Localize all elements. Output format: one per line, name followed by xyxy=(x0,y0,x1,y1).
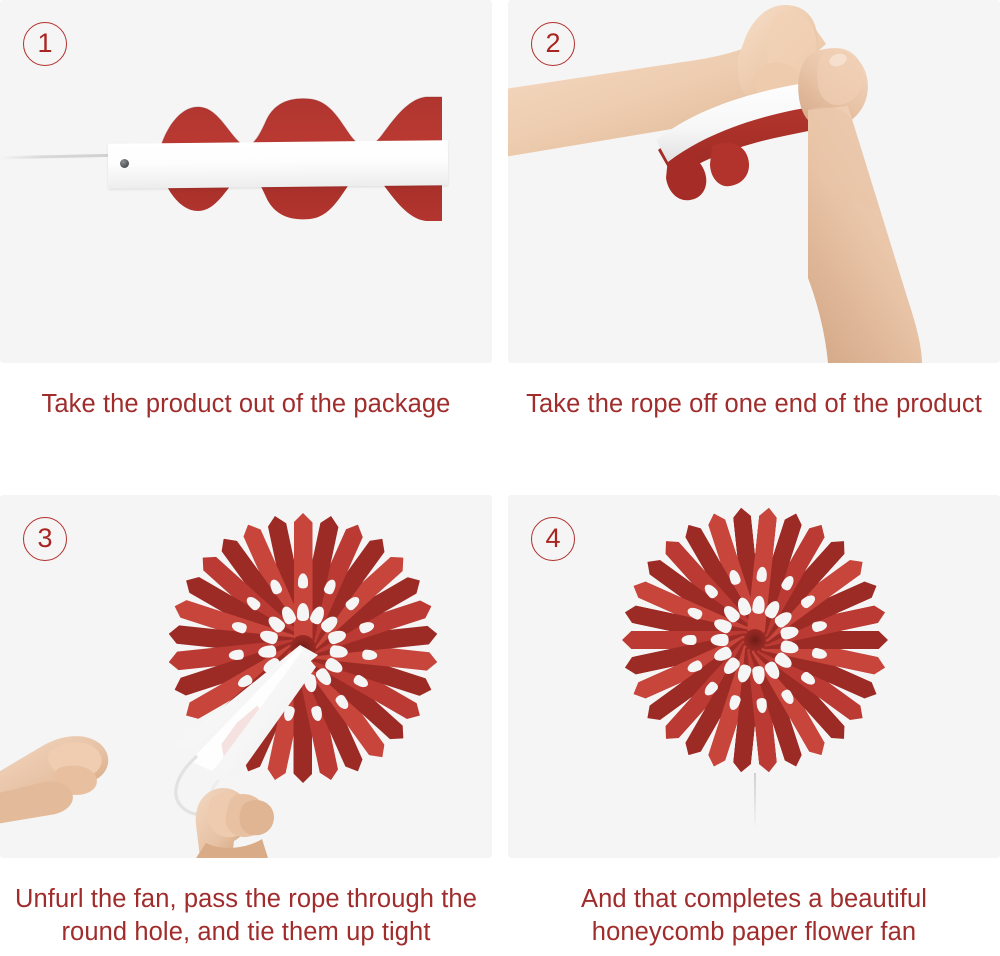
step-1-badge: 1 xyxy=(23,22,67,66)
step-1-caption: Take the product out of the package xyxy=(0,388,492,421)
step-3-panel: 3 Unfurl the fan, pass the rope through … xyxy=(0,495,492,858)
step-4-image-area xyxy=(508,495,1000,858)
fan-hanging-string xyxy=(754,773,756,829)
instruction-sheet: 1 Take the product out of the package xyxy=(0,0,1000,956)
step-3-image-area xyxy=(0,495,492,858)
completed-fan xyxy=(622,507,888,773)
step-4-caption: And that completes a beautiful honeycomb… xyxy=(508,883,1000,949)
step-3-badge: 3 xyxy=(23,517,67,561)
step-1-panel: 1 Take the product out of the package xyxy=(0,0,492,363)
step-4-badge: 4 xyxy=(531,517,575,561)
fan-center-hub xyxy=(744,629,766,651)
step-2-image-area xyxy=(508,0,1000,363)
step-1-image-area xyxy=(0,0,492,363)
step-4-panel: 4 And that completes a beautiful honeyco… xyxy=(508,495,1000,858)
cardboard-strip xyxy=(108,140,448,189)
step-2-illustration xyxy=(508,0,1000,363)
step-3-caption: Unfurl the fan, pass the rope through th… xyxy=(0,883,492,949)
step-2-panel: 2 Take the rope off one end of the produ… xyxy=(508,0,1000,363)
step-2-caption: Take the rope off one end of the product xyxy=(508,388,1000,421)
step-2-badge: 2 xyxy=(531,22,575,66)
eyelet-hole xyxy=(120,159,129,168)
hands-tying-rope-graphic xyxy=(0,495,492,858)
step-1-illustration xyxy=(0,0,492,363)
fan-string xyxy=(0,154,118,159)
hands-holding-fan-graphic xyxy=(508,0,1000,363)
